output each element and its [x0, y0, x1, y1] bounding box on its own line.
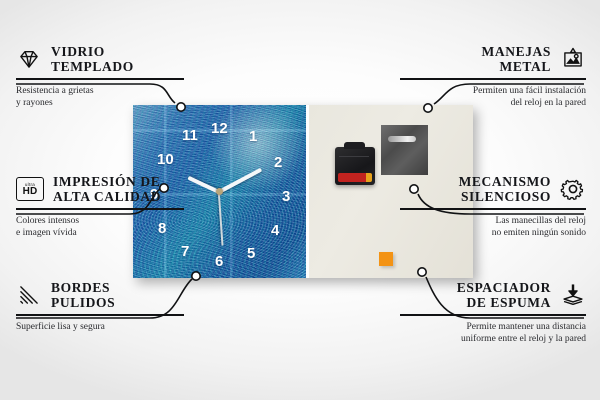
feature-head: ESPACIADOR DE ESPUMA — [400, 280, 586, 310]
feature-desc-line1: Superficie lisa y segura — [16, 321, 184, 333]
clock-numeral-7: 7 — [181, 244, 189, 259]
infographic-canvas: 12 1 2 3 4 5 6 7 8 9 10 11 — [0, 0, 600, 400]
feature-head: BORDES PULIDOS — [16, 280, 184, 310]
feature-rule — [400, 314, 586, 316]
mechanism-lug — [344, 142, 365, 149]
feature-title: ESPACIADOR DE ESPUMA — [457, 280, 551, 310]
clock-numeral-6: 6 — [215, 254, 223, 269]
feature-title: IMPRESIÓN DE ALTA CALIDAD — [53, 174, 161, 204]
feature-rule — [16, 78, 184, 80]
metal-hanger-plate — [381, 125, 428, 175]
feature-desc-line2: del reloj en la pared — [400, 97, 586, 109]
ultra-hd-icon-main: HD — [23, 187, 38, 197]
feature-head: ultra HD IMPRESIÓN DE ALTA CALIDAD — [16, 174, 184, 204]
feature-desc-line1: Colores intensos — [16, 215, 184, 227]
feature-title: VIDRIO TEMPLADO — [51, 44, 134, 74]
feature-rule — [16, 208, 184, 210]
clock-numeral-2: 2 — [274, 155, 282, 170]
mechanism-seam — [339, 156, 369, 157]
feature-head: MECANISMO SILENCIOSO — [400, 174, 586, 204]
feature-vidrio-templado[interactable]: VIDRIO TEMPLADO Resistencia a grietas y … — [16, 44, 184, 109]
feature-title: BORDES PULIDOS — [51, 280, 115, 310]
feature-rule — [400, 78, 586, 80]
feature-desc-line2: no emiten ningún sonido — [400, 227, 586, 239]
foam-spacer-icon — [560, 282, 586, 308]
clock-numeral-3: 3 — [282, 189, 290, 204]
feature-desc-line2: uniforme entre el reloj y la pared — [400, 333, 586, 345]
feature-bordes-pulidos[interactable]: BORDES PULIDOS Superficie lisa y segura — [16, 280, 184, 333]
clock-mechanism — [335, 147, 375, 185]
polished-edges-icon — [16, 282, 42, 308]
feature-desc-line1: Resistencia a grietas — [16, 85, 184, 97]
clock-numeral-11: 11 — [182, 128, 198, 143]
feature-manejas-metal[interactable]: MANEJAS METAL Permiten una fácil instala… — [400, 44, 586, 109]
feature-desc-line2: y rayones — [16, 97, 184, 109]
clock-numeral-10: 10 — [157, 152, 174, 167]
feature-rule — [16, 314, 184, 316]
ultra-hd-icon: ultra HD — [16, 177, 44, 201]
clock-center-cap — [216, 188, 223, 195]
feature-impresion-alta-calidad[interactable]: ultra HD IMPRESIÓN DE ALTA CALIDAD Color… — [16, 174, 184, 239]
clock-numeral-5: 5 — [247, 246, 255, 261]
clock-numeral-1: 1 — [249, 129, 257, 144]
clock-numeral-4: 4 — [271, 223, 279, 238]
feature-desc-line1: Permite mantener una distancia — [400, 321, 586, 333]
wall-frame-icon — [560, 46, 586, 72]
feature-desc-line1: Permiten una fácil instalación — [400, 85, 586, 97]
feature-head: MANEJAS METAL — [400, 44, 586, 74]
feature-title: MECANISMO SILENCIOSO — [459, 174, 551, 204]
feature-desc-line2: e imagen vívida — [16, 227, 184, 239]
clock-numeral-12: 12 — [211, 121, 228, 136]
feature-rule — [400, 208, 586, 210]
battery — [338, 173, 372, 182]
feature-desc-line1: Las manecillas del reloj — [400, 215, 586, 227]
gear-icon — [560, 176, 586, 202]
feature-espaciador-espuma[interactable]: ESPACIADOR DE ESPUMA Permite mantener un… — [400, 280, 586, 345]
diamond-icon — [16, 46, 42, 72]
feature-title: MANEJAS METAL — [482, 44, 551, 74]
hanger-slot — [388, 136, 416, 142]
feature-mecanismo-silencioso[interactable]: MECANISMO SILENCIOSO Las manecillas del … — [400, 174, 586, 239]
foam-spacer — [379, 252, 393, 266]
feature-head: VIDRIO TEMPLADO — [16, 44, 184, 74]
